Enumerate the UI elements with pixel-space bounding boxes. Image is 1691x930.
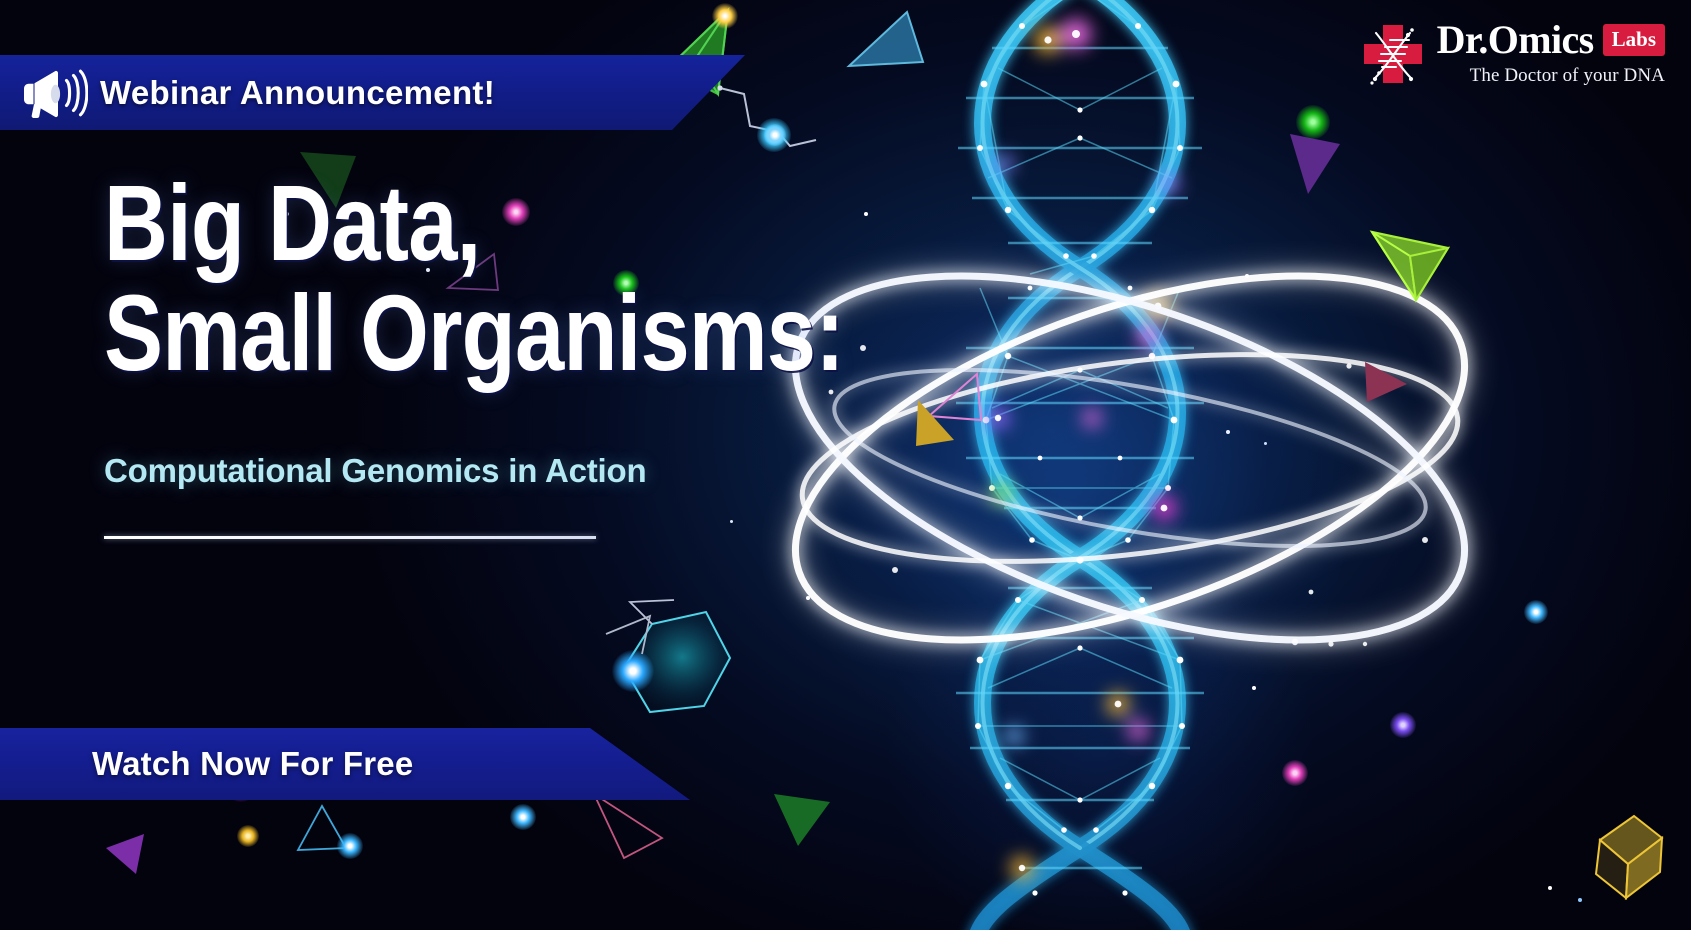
gold-node-glow-top xyxy=(712,3,738,29)
particle-dot-5 xyxy=(1245,274,1249,278)
purple-triangle-right-icon xyxy=(1288,130,1348,200)
green-tetrahedron-right-icon xyxy=(1368,226,1454,310)
subtitle: Computational Genomics in Action xyxy=(104,452,824,490)
maroon-triangle-right-icon xyxy=(1363,358,1413,406)
cyan-triangle-outline-bottom-icon xyxy=(294,802,350,856)
particle-cyan-bottom xyxy=(510,804,536,830)
dna-double-helix-icon xyxy=(880,0,1280,930)
green-particle-glow xyxy=(1296,105,1330,139)
teal-triangle-top-icon xyxy=(845,8,930,78)
gold-wireframe-cube-icon xyxy=(1578,812,1668,904)
particle-dot-10 xyxy=(1578,898,1582,902)
cyan-hexagon-molecule-icon xyxy=(614,600,734,730)
watch-now-cta-label: Watch Now For Free xyxy=(92,745,413,783)
logo-name-row: Dr.Omics Labs xyxy=(1437,20,1665,60)
divider-rule xyxy=(104,536,596,539)
pink-triangle-outline-bottom-icon xyxy=(588,790,668,862)
brand-logo[interactable]: Dr.Omics Labs The Doctor of your DNA xyxy=(1362,20,1665,87)
pink-triangle-outline-icon xyxy=(925,368,985,428)
logo-text-block: Dr.Omics Labs The Doctor of your DNA xyxy=(1437,20,1665,87)
cyan-node-glow-hexagon xyxy=(612,650,654,692)
logo-tagline: The Doctor of your DNA xyxy=(1470,65,1665,87)
particle-dot-6 xyxy=(1226,430,1230,434)
logo-name: Dr.Omics xyxy=(1437,20,1594,60)
ambient-glow-bottom xyxy=(860,560,1340,930)
particle-dot-4 xyxy=(864,212,868,216)
particle-violet-right xyxy=(1390,712,1416,738)
particle-cyan-right xyxy=(1524,600,1548,624)
webinar-announcement-banner: Webinar Announcement! Big Data, Small Or… xyxy=(0,0,1691,930)
white-molecule-chain-icon xyxy=(716,84,836,154)
particle-dot-8 xyxy=(1252,686,1256,690)
cyan-node-glow-top-right xyxy=(757,118,791,152)
watch-now-cta-button[interactable]: Watch Now For Free xyxy=(0,728,690,800)
logo-labs-badge: Labs xyxy=(1603,24,1665,56)
medical-cross-dna-icon xyxy=(1362,23,1424,85)
headline-line-1: Big Data, xyxy=(104,170,694,276)
green-triangle-bottom-icon xyxy=(770,790,836,850)
orbital-rings-icon xyxy=(735,240,1525,680)
particle-dot-12 xyxy=(806,596,810,600)
particle-dot-7 xyxy=(1264,442,1267,445)
headline-block: Big Data, Small Organisms: Computational… xyxy=(104,170,824,539)
particle-white-upper xyxy=(764,124,786,146)
webinar-announcement-label: Webinar Announcement! xyxy=(100,74,495,112)
cyan-node-glow-bottom-left xyxy=(337,833,363,859)
white-molecule-chain-left-icon xyxy=(600,596,720,666)
particle-gold-bottom xyxy=(237,825,259,847)
headline-line-2: Small Organisms: xyxy=(104,280,694,386)
purple-triangle-bottom-left-icon xyxy=(104,830,150,878)
gold-triangle-center-icon xyxy=(910,398,962,452)
particle-dot-9 xyxy=(1548,886,1552,890)
particle-magenta-right xyxy=(1282,760,1308,786)
ambient-glow-center xyxy=(790,180,1350,800)
webinar-announcement-ribbon: Webinar Announcement! xyxy=(0,55,745,130)
megaphone-icon xyxy=(22,68,88,118)
